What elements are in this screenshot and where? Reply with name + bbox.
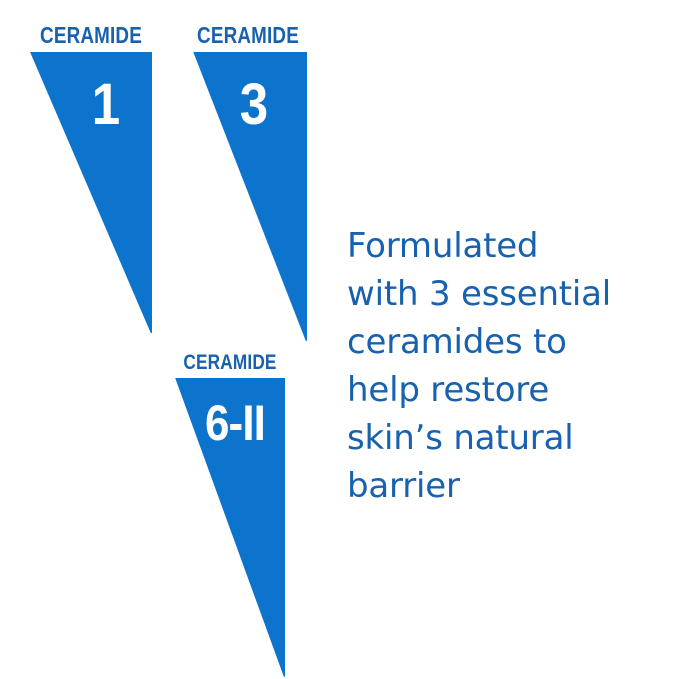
ceramide-wedge-3: CERAMIDE 3 [180,24,316,342]
infographic-canvas: CERAMIDE 1 CERAMIDE 3 CERAMIDE 6-II Form… [0,0,679,679]
ceramide-wedge-6ii: CERAMIDE 6-II [160,352,300,678]
copy-line: barrier [347,462,667,510]
ceramide-label-6ii: CERAMIDE [173,352,288,373]
copy-line: with 3 essential [347,270,667,318]
ceramide-number-6ii: 6-II [195,398,274,448]
copy-line: ceramides to [347,318,667,366]
copy-line: Formulated [347,222,667,270]
ceramide-label-1: CERAMIDE [34,24,147,47]
marketing-copy: Formulated with 3 essential ceramides to… [347,222,667,510]
copy-line: skin’s natural [347,414,667,462]
ceramide-label-3: CERAMIDE [192,24,304,47]
copy-line: help restore [347,366,667,414]
ceramide-number-1: 1 [83,76,129,134]
ceramide-wedge-1: CERAMIDE 1 [22,24,160,334]
ceramide-number-3: 3 [231,76,277,134]
